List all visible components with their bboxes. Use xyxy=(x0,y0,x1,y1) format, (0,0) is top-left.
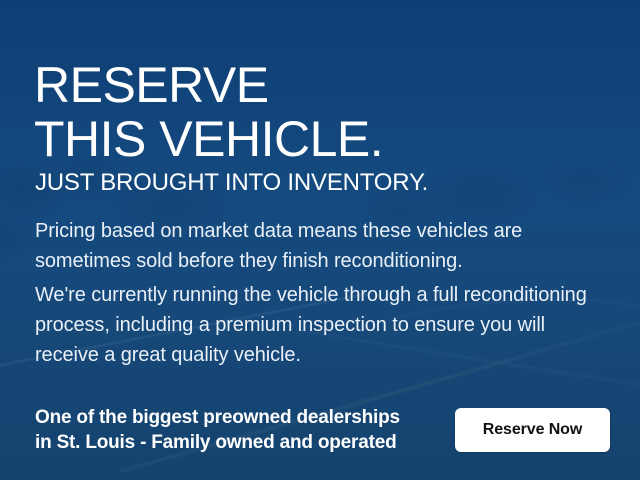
reserve-vehicle-banner: RESERVE THIS VEHICLE. JUST BROUGHT INTO … xyxy=(0,0,640,480)
reserve-now-button[interactable]: Reserve Now xyxy=(455,408,610,452)
banner-paragraph-pricing: Pricing based on market data means these… xyxy=(35,216,595,276)
dealership-tagline: One of the biggest preowned dealerships … xyxy=(35,405,400,455)
banner-subheading: JUST BROUGHT INTO INVENTORY. xyxy=(35,169,428,197)
banner-content: RESERVE THIS VEHICLE. JUST BROUGHT INTO … xyxy=(0,0,640,480)
banner-paragraph-reconditioning: We're currently running the vehicle thro… xyxy=(35,280,595,370)
page-title: RESERVE THIS VEHICLE. xyxy=(34,58,383,166)
